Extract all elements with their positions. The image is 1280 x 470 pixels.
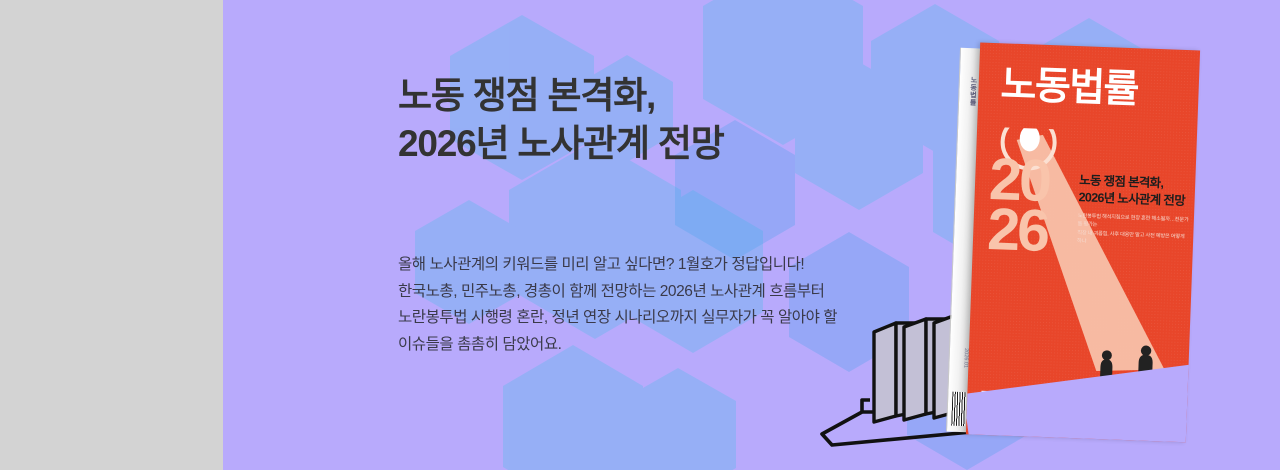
magazine-year-bottom: 26 bbox=[987, 204, 1087, 257]
magazine-year-graphic: 20 26 bbox=[987, 155, 1089, 258]
magazine-cover-blurb: 노란봉투법 해석지침으로 현장 혼란 해소될까…전문가들 평가는 직장 내 괴롭… bbox=[1077, 212, 1190, 250]
magazine-cover-subtitle: 노동 쟁점 본격화, 2026년 노사관계 전망 bbox=[1078, 172, 1191, 209]
promo-body-text: 올해 노사관계의 키워드를 미리 알고 싶다면? 1월호가 정답입니다! 한국노… bbox=[398, 252, 868, 359]
magazine-spine-barcode bbox=[951, 392, 966, 426]
left-gutter-panel bbox=[0, 0, 223, 470]
magazine-cover-illustration: 노동법률 2026.01 노동법률 20 26 노동 쟁점 본격화, 2026년… bbox=[946, 42, 1200, 443]
promo-copy-block: 노동 쟁점 본격화, 2026년 노사관계 전망 bbox=[398, 72, 868, 168]
banner-stage: 노동 쟁점 본격화, 2026년 노사관계 전망 올해 노사관계의 키워드를 미… bbox=[223, 0, 1280, 470]
magazine-title: 노동법률 bbox=[1000, 65, 1138, 109]
magazine-front-cover: 노동법률 20 26 노동 쟁점 본격화, 2026년 노사관계 전망 노란봉투… bbox=[966, 42, 1200, 442]
promo-banner: 노동 쟁점 본격화, 2026년 노사관계 전망 올해 노사관계의 키워드를 미… bbox=[0, 0, 1280, 470]
page-title: 노동 쟁점 본격화, 2026년 노사관계 전망 bbox=[398, 72, 868, 168]
